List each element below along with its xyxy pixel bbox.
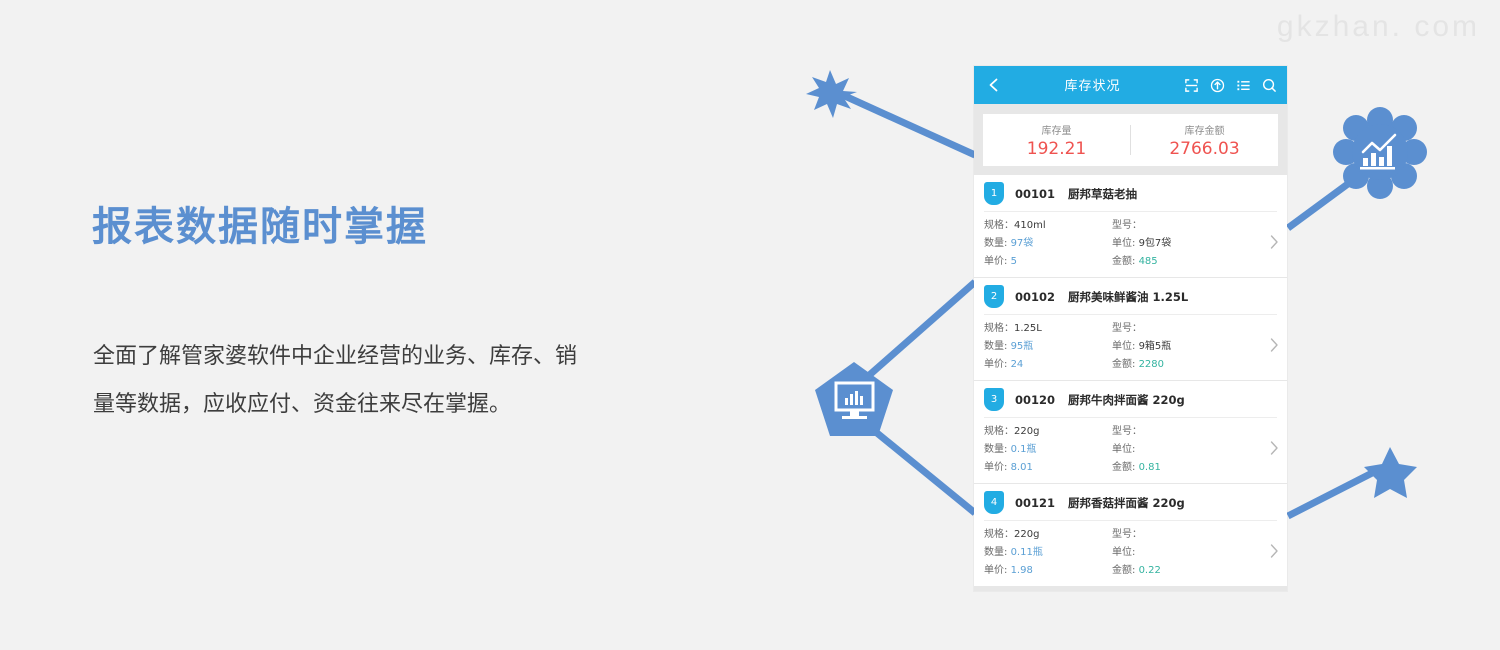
app-navbar: 库存状况 [974, 66, 1287, 104]
row-model: 型号： [1112, 526, 1232, 544]
row-price: 单价: 1.98 [984, 562, 1112, 580]
row-unit: 单位: [1112, 441, 1232, 459]
list-item-header: 1 00101 厨邦草菇老抽 [974, 175, 1287, 211]
row-price: 单价: 24 [984, 356, 1112, 374]
row-price: 单价: 5 [984, 253, 1112, 271]
chevron-right-icon[interactable] [1270, 234, 1279, 250]
row-column-left: 规格：220g 数量: 0.11瓶 单价: 1.98 [984, 526, 1112, 580]
connector-line-mid-lower [866, 424, 975, 513]
row-spec: 规格：220g [984, 526, 1112, 544]
connector-line-bottom-right [1288, 470, 1378, 516]
row-qty: 数量: 0.11瓶 [984, 544, 1112, 562]
row-model: 型号： [1112, 423, 1232, 441]
row-product-name: 厨邦牛肉拌面酱 220g [1068, 392, 1185, 408]
chevron-right-icon[interactable] [1270, 543, 1279, 559]
chevron-right-icon[interactable] [1270, 337, 1279, 353]
list-item-header: 4 00121 厨邦香菇拌面酱 220g [974, 484, 1287, 520]
row-model: 型号： [1112, 320, 1232, 338]
row-unit: 单位: 9包7袋 [1112, 235, 1232, 253]
page-title: 报表数据随时掌握 [92, 194, 428, 252]
row-product-code: 00120 [1015, 393, 1055, 407]
connector-line-top-right [1288, 175, 1360, 228]
row-spec: 规格：220g [984, 423, 1112, 441]
list-icon[interactable] [1236, 78, 1251, 93]
phone-mockup: 库存状况 [974, 66, 1287, 591]
chevron-right-icon[interactable] [1270, 440, 1279, 456]
row-column-right: 型号： 单位: 9箱5瓶 金额: 2280 [1112, 320, 1232, 374]
monitor-chart-pentagon-icon [815, 362, 893, 436]
summary-cell-quantity: 库存量 192.21 [983, 122, 1130, 159]
row-product-name: 厨邦美味鲜酱油 1.25L [1068, 289, 1188, 305]
row-model: 型号： [1112, 217, 1232, 235]
row-column-right: 型号： 单位: 9包7袋 金额: 485 [1112, 217, 1232, 271]
list-item[interactable]: 2 00102 厨邦美味鲜酱油 1.25L 规格：1.25L 数量: 95瓶 单… [974, 278, 1287, 380]
row-column-right: 型号： 单位: 金额: 0.81 [1112, 423, 1232, 477]
list-item-header: 3 00120 厨邦牛肉拌面酱 220g [974, 381, 1287, 417]
row-unit: 单位: 9箱5瓶 [1112, 338, 1232, 356]
navbar-actions [1184, 78, 1277, 93]
list-item[interactable]: 1 00101 厨邦草菇老抽 规格：410ml 数量: 97袋 单价: 5 型号… [974, 175, 1287, 277]
row-product-code: 00102 [1015, 290, 1055, 304]
chevron-left-icon[interactable] [986, 77, 1002, 93]
list-item-header: 2 00102 厨邦美味鲜酱油 1.25L [974, 278, 1287, 314]
connector-line-top-left [836, 92, 975, 155]
row-index-badge: 2 [984, 285, 1004, 308]
list-item[interactable]: 3 00120 厨邦牛肉拌面酱 220g 规格：220g 数量: 0.1瓶 单价… [974, 381, 1287, 483]
connector-line-mid-upper [866, 282, 975, 378]
summary-card: 库存量 192.21 库存金额 2766.03 [983, 114, 1278, 166]
list-empty-tail [974, 587, 1287, 591]
page-description: 全面了解管家婆软件中企业经营的业务、库存、销量等数据，应收应付、资金往来尽在掌握… [93, 333, 593, 429]
row-column-right: 型号： 单位: 金额: 0.22 [1112, 526, 1232, 580]
row-column-left: 规格：1.25L 数量: 95瓶 单价: 24 [984, 320, 1112, 374]
row-product-code: 00121 [1015, 496, 1055, 510]
row-product-name: 厨邦香菇拌面酱 220g [1068, 495, 1185, 511]
starburst-icon [806, 70, 857, 118]
row-product-name: 厨邦草菇老抽 [1068, 186, 1137, 202]
summary-label-quantity: 库存量 [983, 122, 1130, 137]
row-index-badge: 1 [984, 182, 1004, 205]
row-column-left: 规格：220g 数量: 0.1瓶 单价: 8.01 [984, 423, 1112, 477]
summary-value-quantity: 192.21 [983, 139, 1130, 159]
summary-cell-amount: 库存金额 2766.03 [1131, 122, 1278, 159]
row-spec: 规格：1.25L [984, 320, 1112, 338]
list-item-body: 规格：220g 数量: 0.11瓶 单价: 1.98 型号： 单位: 金额: 0… [974, 521, 1287, 580]
summary-label-amount: 库存金额 [1131, 122, 1278, 137]
inventory-list: 1 00101 厨邦草菇老抽 规格：410ml 数量: 97袋 单价: 5 型号… [974, 175, 1287, 586]
row-qty: 数量: 95瓶 [984, 338, 1112, 356]
row-qty: 数量: 97袋 [984, 235, 1112, 253]
star-icon [1364, 447, 1417, 498]
scan-icon[interactable] [1184, 78, 1199, 93]
row-price: 单价: 8.01 [984, 459, 1112, 477]
watermark-text: gkzhan. com [1277, 10, 1480, 44]
summary-value-amount: 2766.03 [1131, 139, 1278, 159]
page-root: gkzhan. com 报表数据随时掌握 全面了解管家婆软件中企业经营的业务、库… [0, 0, 1500, 650]
row-qty: 数量: 0.1瓶 [984, 441, 1112, 459]
row-amount: 金额: 2280 [1112, 356, 1232, 374]
row-column-left: 规格：410ml 数量: 97袋 单价: 5 [984, 217, 1112, 271]
navbar-title: 库存状况 [1064, 79, 1120, 94]
list-item-body: 规格：220g 数量: 0.1瓶 单价: 8.01 型号： 单位: 金额: 0.… [974, 418, 1287, 477]
row-index-badge: 3 [984, 388, 1004, 411]
search-icon[interactable] [1262, 78, 1277, 93]
list-item[interactable]: 4 00121 厨邦香菇拌面酱 220g 规格：220g 数量: 0.11瓶 单… [974, 484, 1287, 586]
row-index-badge: 4 [984, 491, 1004, 514]
row-unit: 单位: [1112, 544, 1232, 562]
upload-circle-icon[interactable] [1210, 78, 1225, 93]
chart-badge-icon [1333, 107, 1427, 199]
row-amount: 金额: 0.81 [1112, 459, 1232, 477]
list-item-body: 规格：1.25L 数量: 95瓶 单价: 24 型号： 单位: 9箱5瓶 金额:… [974, 315, 1287, 374]
list-item-body: 规格：410ml 数量: 97袋 单价: 5 型号： 单位: 9包7袋 金额: … [974, 212, 1287, 271]
row-product-code: 00101 [1015, 187, 1055, 201]
row-spec: 规格：410ml [984, 217, 1112, 235]
row-amount: 金额: 0.22 [1112, 562, 1232, 580]
row-amount: 金额: 485 [1112, 253, 1232, 271]
